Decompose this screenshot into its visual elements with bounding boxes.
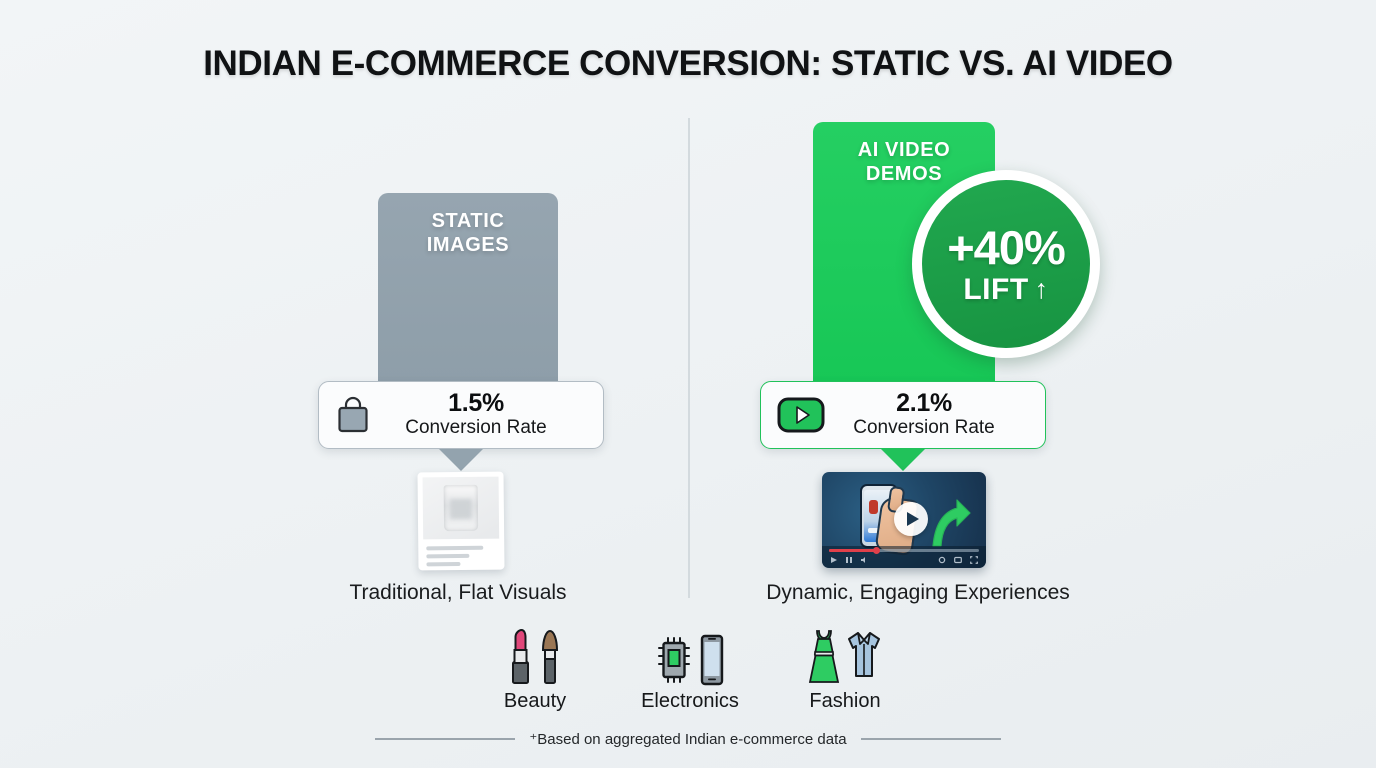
page-title: INDIAN E-COMMERCE CONVERSION: STATIC VS.… xyxy=(0,44,1376,84)
lift-label: LIFT xyxy=(963,275,1028,305)
beauty-icons xyxy=(460,624,610,686)
category-label: Fashion xyxy=(770,690,920,713)
stat-card-static: 1.5% Conversion Rate xyxy=(318,381,604,449)
footnote: ⁺Based on aggregated Indian e-commerce d… xyxy=(0,730,1376,748)
shirt-icon xyxy=(845,628,883,686)
pointer-static xyxy=(439,449,483,471)
bar-static-label-line2: IMAGES xyxy=(378,233,558,257)
pause-small-icon[interactable] xyxy=(845,556,853,564)
lipstick-icon xyxy=(507,628,533,686)
video-controls-bar[interactable] xyxy=(822,546,986,568)
stat-card-video-text: 2.1% Conversion Rate xyxy=(825,390,1029,440)
ai-video-player-thumbnail xyxy=(822,472,986,568)
video-progress-track[interactable] xyxy=(829,549,979,552)
center-divider xyxy=(688,118,690,598)
lift-percent: +40% xyxy=(947,224,1065,271)
category-label: Electronics xyxy=(615,690,765,713)
static-conversion-value: 1.5% xyxy=(371,390,581,416)
bar-video-label-line1: AI VIDEO xyxy=(813,138,995,162)
video-conversion-value: 2.1% xyxy=(825,390,1023,416)
bar-static-label-line1: STATIC xyxy=(378,209,558,233)
footnote-rule-left xyxy=(375,738,515,740)
video-left-controls[interactable] xyxy=(830,556,868,564)
electronics-icons xyxy=(615,624,765,686)
video-right-controls[interactable] xyxy=(938,556,978,564)
phone-product-thumb xyxy=(869,500,878,514)
play-button-icon xyxy=(777,397,825,433)
category-label: Beauty xyxy=(460,690,610,713)
stat-card-static-text: 1.5% Conversion Rate xyxy=(371,390,587,440)
footnote-text: ⁺Based on aggregated Indian e-commerce d… xyxy=(529,730,846,748)
shopping-bag-icon xyxy=(335,396,371,434)
arrow-up-icon: ↑ xyxy=(1035,276,1049,303)
captions-icon[interactable] xyxy=(954,556,962,564)
makeup-brush-icon xyxy=(537,628,563,686)
static-product-card-thumbnail xyxy=(417,472,504,571)
placeholder-line xyxy=(426,546,483,551)
infographic-canvas: INDIAN E-COMMERCE CONVERSION: STATIC VS.… xyxy=(0,0,1376,768)
stat-card-video: 2.1% Conversion Rate xyxy=(760,381,1046,449)
category-row: Beauty Electronics xyxy=(460,624,920,713)
footnote-rule-right xyxy=(861,738,1001,740)
product-pouch-shape xyxy=(444,485,478,531)
microchip-icon xyxy=(655,634,695,686)
video-play-overlay-icon[interactable] xyxy=(894,502,928,536)
caption-left: Traditional, Flat Visuals xyxy=(228,581,688,605)
volume-small-icon[interactable] xyxy=(860,556,868,564)
video-progress-knob[interactable] xyxy=(873,547,880,554)
product-photo-placeholder xyxy=(423,477,500,540)
settings-gear-icon[interactable] xyxy=(938,556,946,564)
category-fashion: Fashion xyxy=(770,624,920,713)
fullscreen-icon[interactable] xyxy=(970,556,978,564)
video-conversion-label: Conversion Rate xyxy=(825,417,1023,440)
bar-static-images: STATIC IMAGES xyxy=(378,193,558,388)
smartphone-icon xyxy=(699,634,725,686)
play-small-icon[interactable] xyxy=(830,556,838,564)
lift-badge: +40% LIFT ↑ xyxy=(912,170,1100,358)
fashion-icons xyxy=(770,624,920,686)
placeholder-line xyxy=(426,554,469,558)
category-beauty: Beauty xyxy=(460,624,610,713)
text-placeholder-lines xyxy=(423,539,499,567)
static-conversion-label: Conversion Rate xyxy=(371,417,581,440)
category-electronics: Electronics xyxy=(615,624,765,713)
pointer-video xyxy=(881,449,925,471)
lift-label-row: LIFT ↑ xyxy=(963,275,1048,305)
caption-right: Dynamic, Engaging Experiences xyxy=(688,581,1148,605)
lift-badge-inner: +40% LIFT ↑ xyxy=(922,180,1090,348)
growth-arrow-icon xyxy=(929,488,973,550)
placeholder-line xyxy=(426,562,460,566)
dress-icon xyxy=(807,628,841,686)
video-progress-fill xyxy=(829,549,874,552)
